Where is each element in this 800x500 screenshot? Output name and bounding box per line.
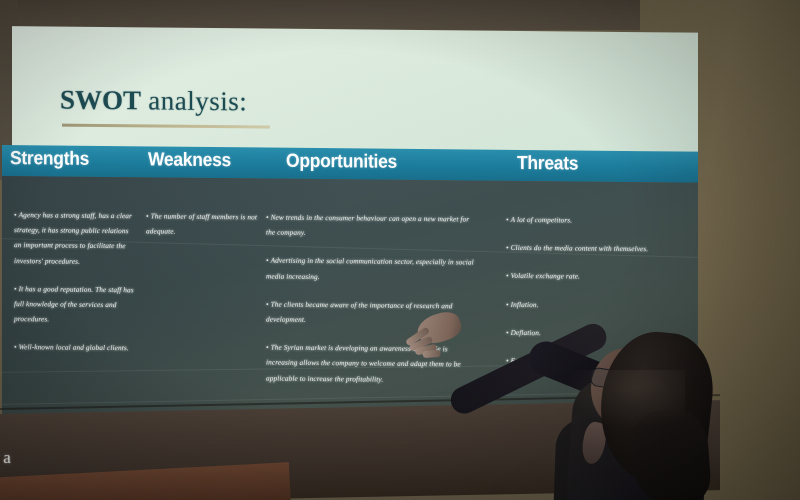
column-heading-opportunities: Opportunities (286, 151, 397, 174)
column-heading-strengths: Strengths (10, 148, 89, 171)
bullet-item: Advertising in the social communication … (266, 253, 476, 285)
presenter-hand (414, 308, 464, 348)
slide-title-panel: SWOT analysis: (12, 26, 698, 153)
column-heading-weakness: Weakness (148, 149, 231, 172)
presenter-finger (422, 350, 440, 358)
bullet-item: Clients do the media content with themse… (506, 240, 681, 257)
bullet-item: The number of staff members is not adequ… (146, 208, 266, 240)
bullet-item: A lot of competitors. (506, 212, 681, 229)
slide-title-bold: SWOT (60, 85, 141, 116)
title-underline-rule (62, 124, 270, 129)
column-strengths: Agency has a strong staff, has a clear s… (14, 176, 136, 369)
photo-scene: SWOT analysis: Strengths Weakness Opport… (0, 0, 800, 500)
bullet-item: Agency has a strong staff, has a clear s… (14, 207, 136, 269)
edge-letter-glyph: a (0, 447, 14, 469)
presenter-highlight (565, 370, 685, 430)
slide-title: SWOT analysis: (60, 85, 247, 118)
presenter-figure (415, 300, 755, 500)
bullet-item: New trends in the consumer behaviour can… (266, 210, 476, 242)
column-weakness: The number of staff members is not adequ… (146, 177, 266, 253)
bullet-item: Well-known local and global clients. (14, 340, 136, 356)
bullet-item: Volatile exchange rate. (506, 268, 681, 285)
slide-title-rest: analysis: (141, 85, 247, 116)
column-heading-threats: Threats (517, 153, 578, 176)
bullet-item: It has a good reputation. The staff has … (14, 281, 136, 328)
